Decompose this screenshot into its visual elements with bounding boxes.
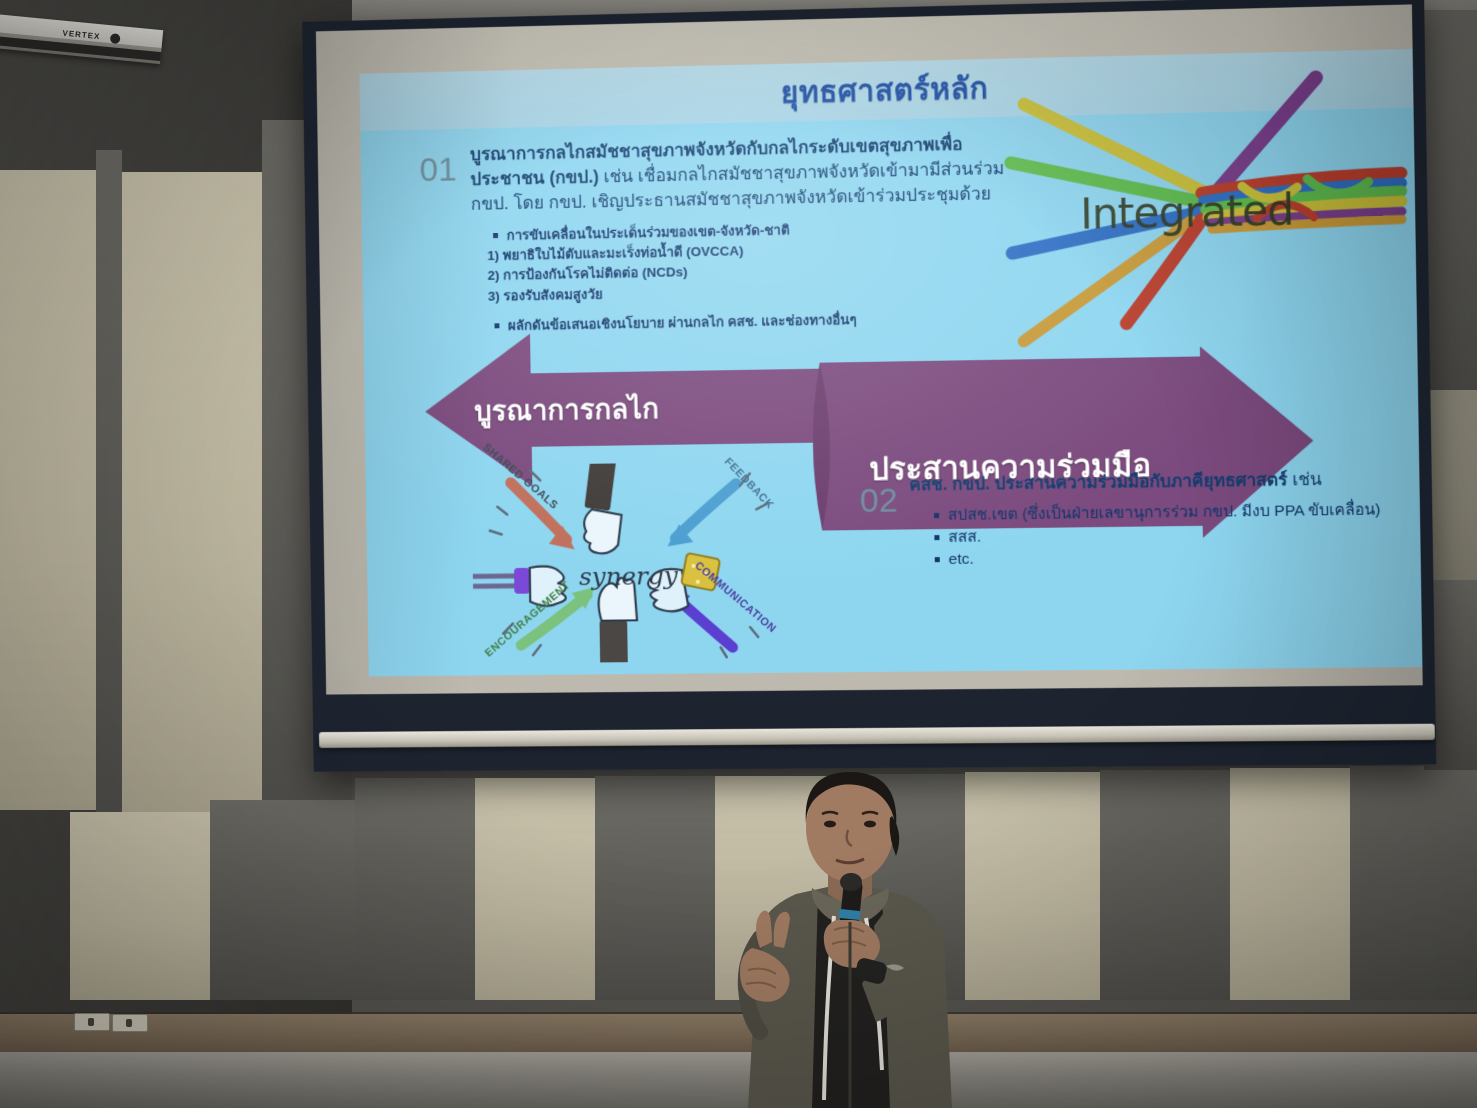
acoustic-panel (96, 150, 122, 830)
section-02-bullets: สปสช.เขต (ซึ่งเป็นฝ่ายเลขานุการร่วม กขป.… (932, 499, 1408, 571)
conference-room-photo: VERTEX ยุทธศาสตร์หลัก (0, 0, 1477, 1108)
acoustic-panel (1350, 766, 1477, 1000)
presenter-eye (824, 821, 836, 828)
slide-section-02: 02 คสช. กขป. ประสานความร่วมมือกับภาคียุท… (859, 467, 1407, 572)
presenter (700, 770, 1000, 1108)
presenter-eye (864, 821, 876, 828)
section-01-lead: บูรณาการกลไกสมัชชาสุขภาพจังหวัดกับกลไกระ… (470, 131, 1016, 217)
section-number-01: 01 (419, 143, 459, 337)
presenter-finger-index (756, 910, 772, 948)
presenter-hair-side (890, 816, 900, 856)
vertex-brand-label: VERTEX (62, 29, 101, 42)
integrated-label: Integrated (1080, 185, 1294, 239)
arrow-left-label: บูรณาการกลไก (474, 387, 659, 434)
integrated-rope-graphic: Integrated (1001, 63, 1422, 374)
synergy-center-word-text: synergy (579, 561, 679, 591)
wall-outlet (112, 1014, 148, 1032)
section-01-sub-items: 1) พยาธิใบไม้ตับและมะเร็งท่อน้ำดี (OVCCA… (487, 236, 1017, 306)
outlet-hole (88, 1018, 94, 1026)
acoustic-panel (210, 800, 360, 1000)
acoustic-panel (1100, 770, 1230, 1000)
acoustic-panel (1424, 10, 1477, 390)
synergy-doodle-graphic: synergy SHARED GOALS FEEDBACK ENCOURAGEM… (471, 461, 800, 664)
microphone-head (840, 873, 862, 891)
section-02-lead-rest: เช่น (1287, 470, 1322, 490)
screen-surface: ยุทธศาสตร์หลัก (316, 4, 1423, 694)
section-number-02: 02 (859, 474, 898, 572)
acoustic-panel (595, 776, 715, 1000)
wall-outlet (74, 1013, 110, 1031)
rail-logo-dot (110, 33, 121, 44)
acoustic-panel (475, 778, 595, 1000)
slide-title: ยุทธศาสตร์หลัก (781, 65, 989, 117)
section-02-lead-bold: คสช. กขป. ประสานความร่วมมือกับภาคียุทธศา… (909, 470, 1287, 494)
projection-screen: ยุทธศาสตร์หลัก (302, 0, 1436, 772)
list-item: etc. (932, 543, 1407, 571)
acoustic-panel (355, 778, 475, 1000)
acoustic-panel (122, 172, 262, 812)
presenter-svg (700, 770, 1000, 1108)
slide-section-01: 01 บูรณาการกลไกสมัชชาสุขภาพจังหวัดกับกลไ… (419, 131, 1017, 337)
acoustic-panel (0, 170, 96, 810)
acoustic-panel (70, 812, 210, 1000)
screen-weight-bar (319, 724, 1435, 748)
acoustic-panel (1230, 768, 1350, 1000)
presentation-slide: ยุทธศาสตร์หลัก (359, 49, 1422, 677)
outlet-hole (126, 1019, 132, 1027)
